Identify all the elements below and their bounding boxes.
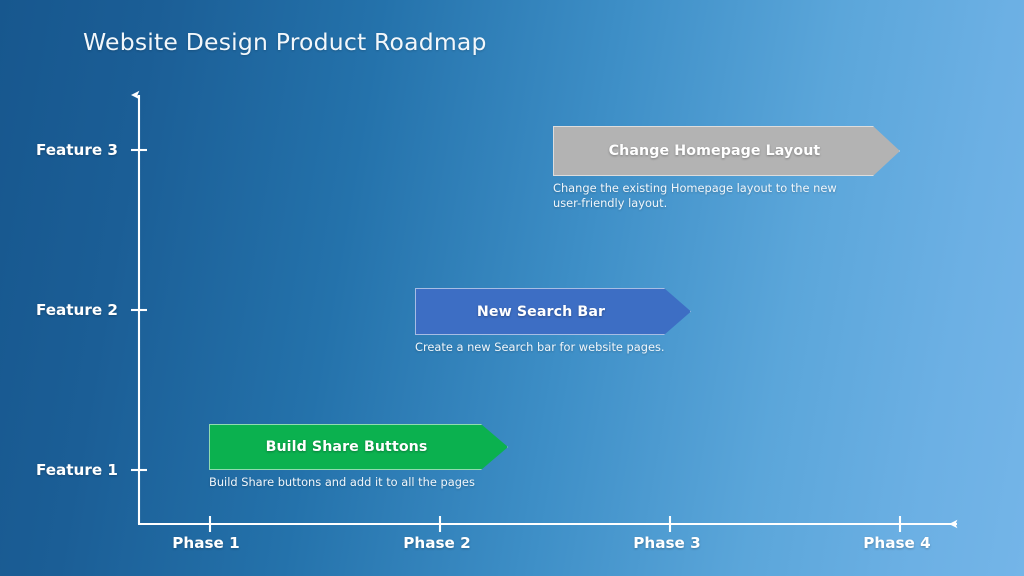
milestone-build-share-buttons[interactable]: Build Share Buttons Build Share buttons … <box>209 424 508 490</box>
y-axis-label-feature-1-wrap: Feature 1 <box>0 461 118 481</box>
milestone-bar-feature-1[interactable]: Build Share Buttons <box>209 424 508 470</box>
milestone-new-search-bar[interactable]: New Search Bar Create a new Search bar f… <box>415 288 691 355</box>
y-axis-label-feature-2-wrap: Feature 2 <box>0 301 118 321</box>
milestone-title-feature-3: Change Homepage Layout <box>609 143 821 159</box>
y-axis-label-feature-1: Feature 1 <box>36 461 118 479</box>
roadmap-slide: Website Design Product Roadmap Feature 3… <box>0 0 1024 576</box>
y-axis-label-feature-3: Feature 3 <box>36 141 118 159</box>
x-axis-label-phase-4: Phase 4 <box>863 534 930 552</box>
milestone-description-feature-2: Create a new Search bar for website page… <box>415 340 715 355</box>
x-axis-label-phase-1: Phase 1 <box>172 534 239 552</box>
milestone-title-feature-1: Build Share Buttons <box>266 439 428 455</box>
y-axis-label-feature-3-wrap: Feature 3 <box>0 141 118 161</box>
milestone-bar-feature-3[interactable]: Change Homepage Layout <box>553 126 900 176</box>
y-axis-label-feature-2: Feature 2 <box>36 301 118 319</box>
milestone-description-feature-1: Build Share buttons and add it to all th… <box>209 475 509 490</box>
milestone-description-feature-3: Change the existing Homepage layout to t… <box>553 181 853 211</box>
x-axis-label-phase-2: Phase 2 <box>403 534 470 552</box>
x-axis-label-phase-3: Phase 3 <box>633 534 700 552</box>
milestone-title-feature-2: New Search Bar <box>477 304 605 320</box>
milestone-bar-feature-2[interactable]: New Search Bar <box>415 288 691 335</box>
milestone-change-homepage-layout[interactable]: Change Homepage Layout Change the existi… <box>553 126 900 211</box>
